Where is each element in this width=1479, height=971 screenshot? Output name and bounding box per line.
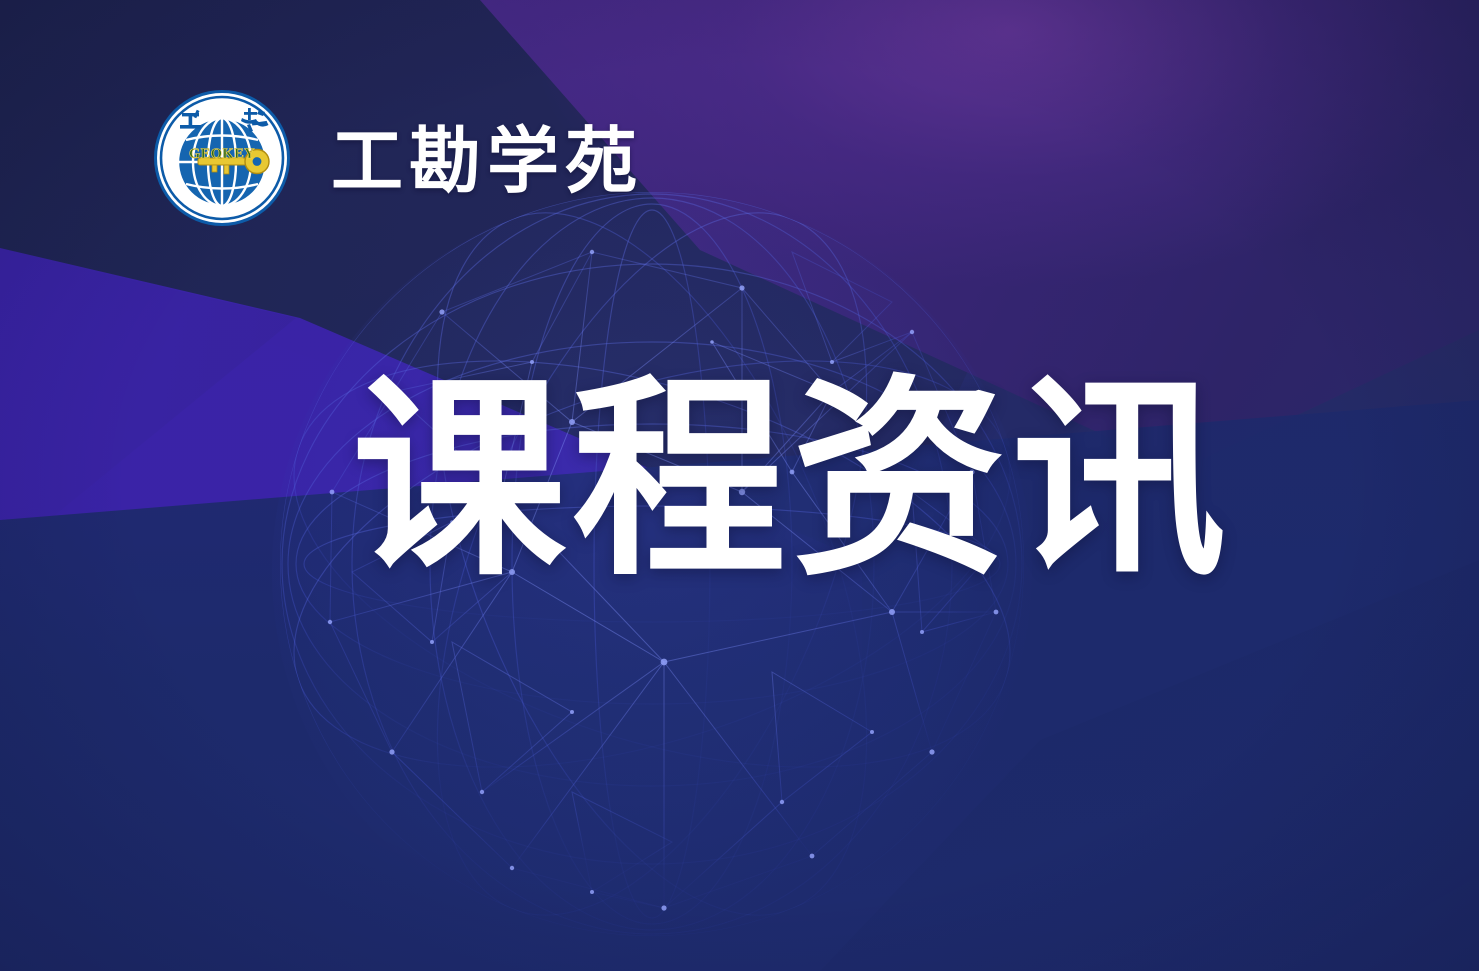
logo-wordmark: GEOKEY [189,146,255,162]
page-title: 课程资讯 [352,368,1232,594]
brand-title: 工勘学苑 [331,119,643,203]
course-info-banner: GEOKEY 工勘学苑 课程资讯 [0,0,1479,971]
globe-key-logo-icon: GEOKEY [152,88,292,228]
